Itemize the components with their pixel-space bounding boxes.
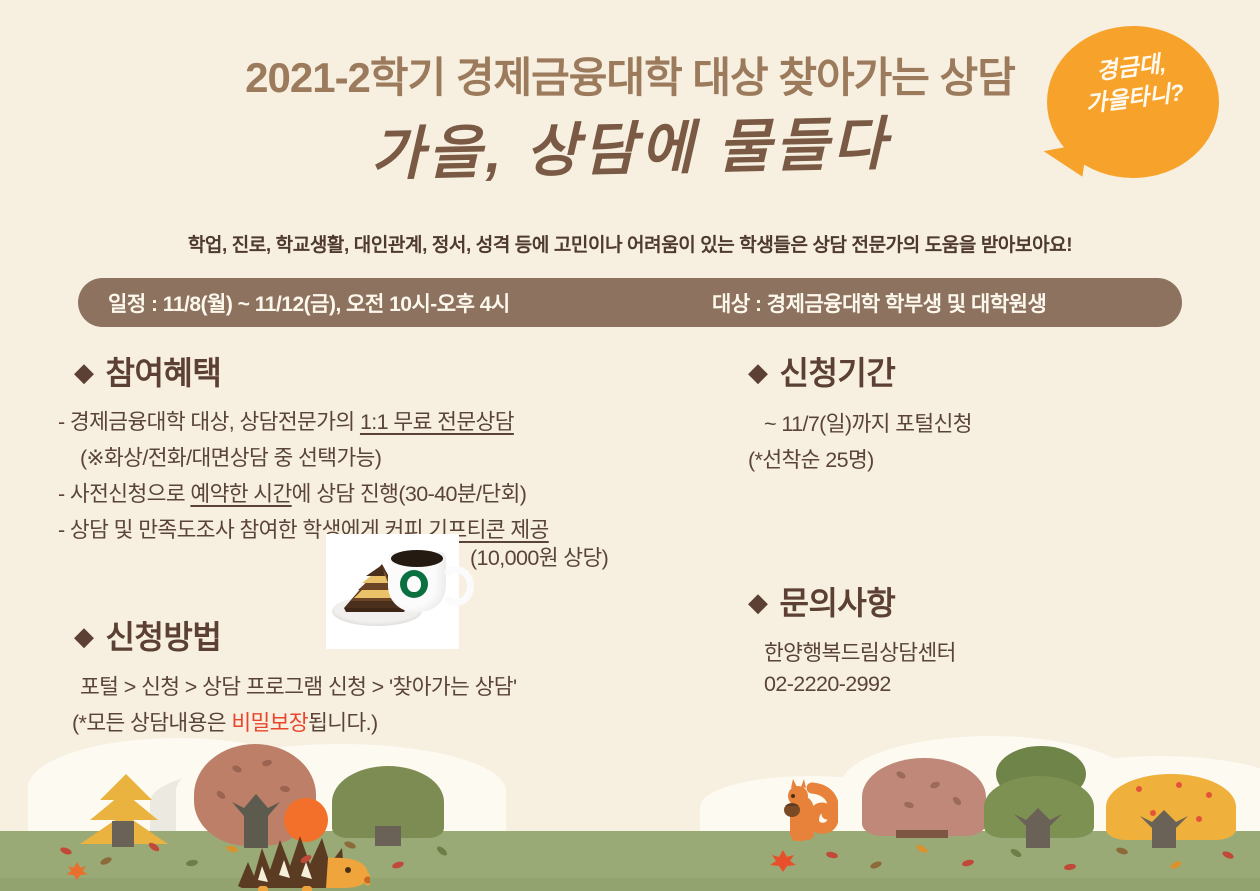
benefits-line-4: - 상담 및 만족도조사 참여한 학생에게 커피 기프티콘 제공 xyxy=(58,513,549,544)
inquiry-phone-number: 02-2220-2992 xyxy=(764,672,891,697)
benefits-line-5: (10,000원 상당) xyxy=(470,541,608,572)
squirrel-with-acorn xyxy=(778,778,838,847)
maple-leaf-icon xyxy=(66,862,88,880)
autumn-scene-illustration xyxy=(0,726,1260,891)
benefits-line-1-pre: - 경제금융대학 대상, 상담전문가의 xyxy=(58,410,360,434)
diamond-icon: ◆ xyxy=(748,587,768,617)
info-bar-target: 대상 : 경제금융대학 학부생 및 대학원생 xyxy=(712,288,1046,318)
benefits-line-3-post: 에 상담 진행(30-40분/단회) xyxy=(292,482,527,506)
mug-handle-shape xyxy=(438,566,474,606)
berry-dot xyxy=(1196,816,1202,822)
benefits-line-3-underline: 예약한 시간 xyxy=(190,482,291,506)
berry-dot xyxy=(1176,782,1182,788)
hedgehog-body xyxy=(232,822,370,891)
apply-method-line-1: 포털 > 신청 > 상담 프로그램 신청 > '찾아가는 상담' xyxy=(80,670,516,701)
section-heading-apply-period: ◆신청기간 xyxy=(748,348,895,394)
pink-brown-tree xyxy=(862,758,986,836)
tree-trunk xyxy=(375,826,401,846)
tree-trunk xyxy=(1010,808,1066,848)
coffee-and-cake-image xyxy=(326,534,459,649)
info-bar-schedule: 일정 : 11/8(월) ~ 11/12(금), 오전 10시-오후 4시 xyxy=(108,288,510,318)
inquiry-center-name: 한양행복드림상담센터 xyxy=(764,636,956,667)
apply-period-line-1: ~ 11/7(일)까지 포털신청 xyxy=(764,407,972,438)
benefits-line-2: (※화상/전화/대면상담 중 선택가능) xyxy=(80,441,381,472)
section-heading-apply-method-label: 신청방법 xyxy=(106,619,222,655)
benefits-line-3-pre: - 사전신청으로 xyxy=(58,482,190,506)
benefits-line-3: - 사전신청으로 예약한 시간에 상담 진행(30-40분/단회) xyxy=(58,477,526,508)
section-heading-benefits-label: 참여혜택 xyxy=(106,355,222,391)
section-heading-benefits: ◆참여혜택 xyxy=(74,348,221,394)
starbucks-logo-icon xyxy=(400,570,428,598)
section-heading-inquiry-label: 문의사항 xyxy=(780,585,896,621)
apply-period-line-2: (*선착순 25명) xyxy=(748,443,874,474)
grass-ground-shadow xyxy=(0,878,1260,891)
tree-trunk xyxy=(1136,810,1192,848)
diamond-icon: ◆ xyxy=(748,357,768,387)
tree-trunk xyxy=(112,821,134,847)
speech-bubble-tail-icon xyxy=(1041,137,1087,177)
section-heading-inquiry: ◆문의사항 xyxy=(748,578,895,624)
section-heading-apply-method: ◆신청방법 xyxy=(74,612,221,658)
berry-dot xyxy=(1206,792,1212,798)
poster-canvas: 2021-2학기 경제금융대학 대상 찾아가는 상담 가을, 상담에 물들다 경… xyxy=(0,0,1260,891)
benefits-line-1-underline: 1:1 무료 전문상담 xyxy=(360,410,514,434)
tree-trunk xyxy=(896,830,948,838)
berry-dot xyxy=(1136,786,1142,792)
maple-leaf-icon xyxy=(770,850,796,872)
benefits-line-1: - 경제금융대학 대상, 상담전문가의 1:1 무료 전문상담 xyxy=(58,405,514,436)
squirrel-body xyxy=(778,778,838,842)
coffee-surface-shape xyxy=(391,550,443,567)
diamond-icon: ◆ xyxy=(74,621,94,651)
diamond-icon: ◆ xyxy=(74,357,94,387)
intro-text: 학업, 진로, 학교생활, 대인관계, 정서, 성격 등에 고민이나 어려움이 … xyxy=(0,230,1260,257)
section-heading-apply-period-label: 신청기간 xyxy=(780,355,896,391)
